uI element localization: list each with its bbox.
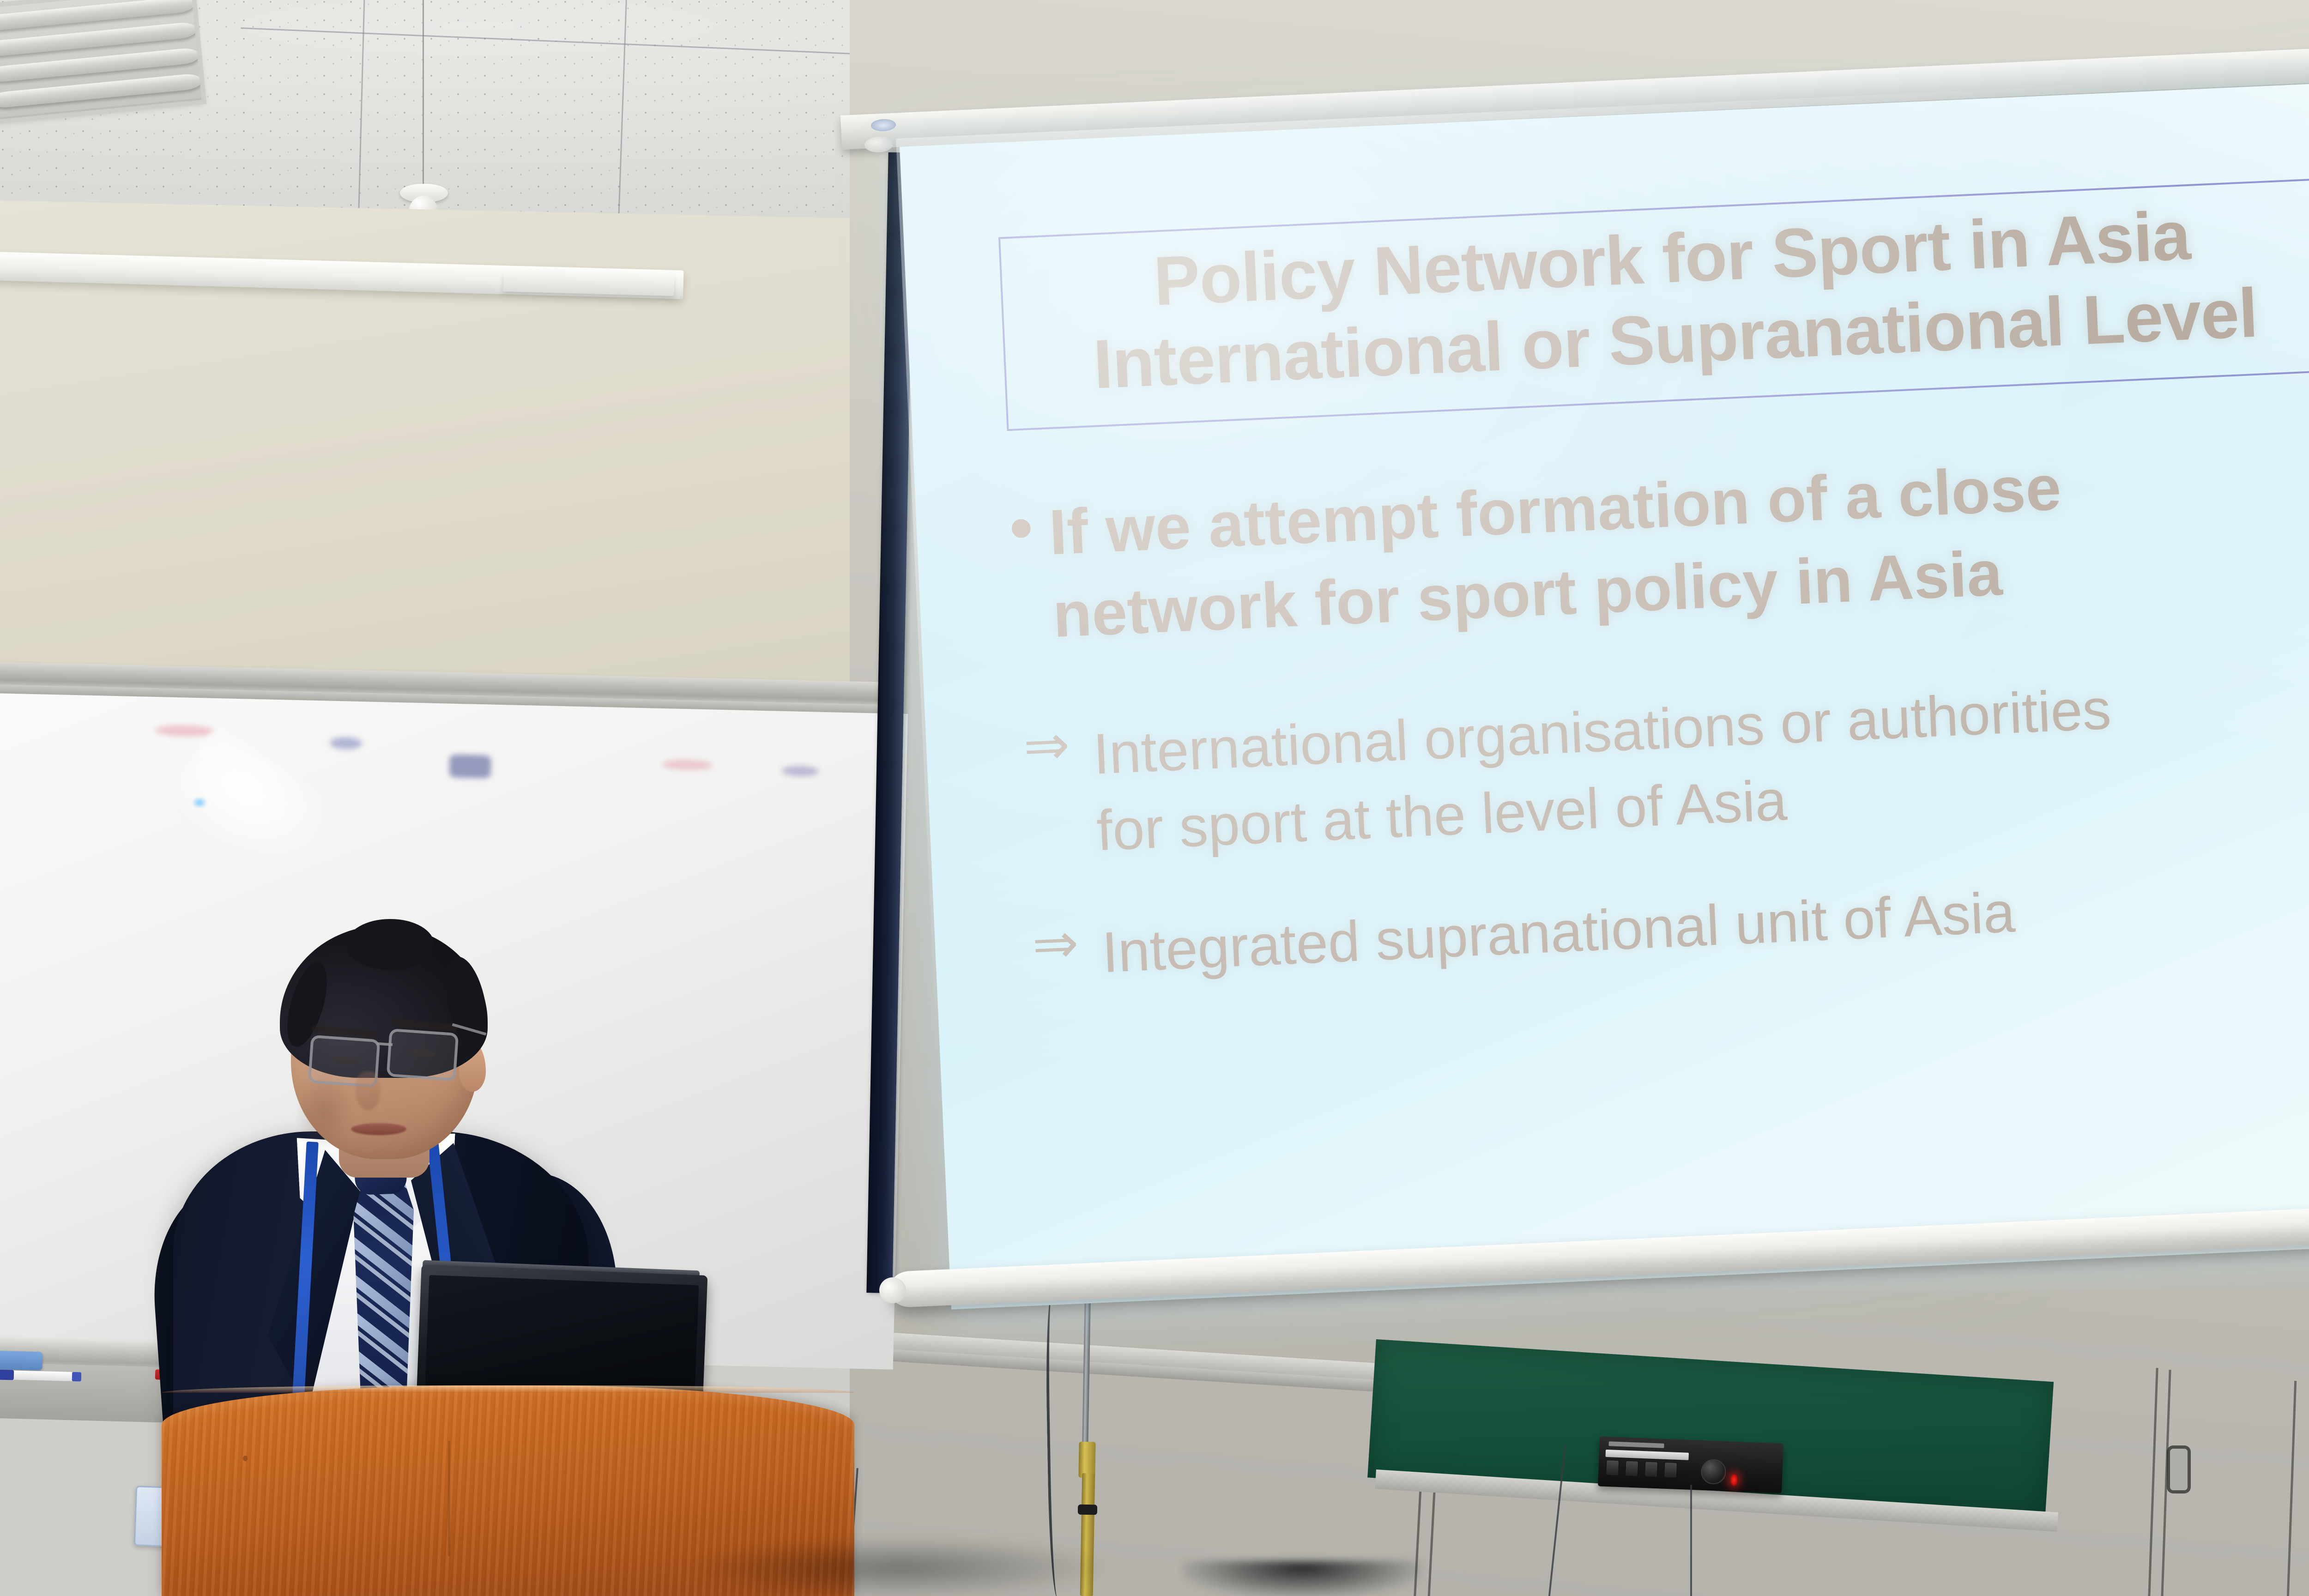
foreground-dark-object (1182, 1561, 1422, 1596)
amplifier-cable (1690, 1485, 1699, 1596)
lectern-wood-seam (448, 1441, 450, 1556)
slide-arrow-item-2: ⇒ Integrated supranational unit of Asia (1031, 857, 2309, 994)
arrow-2-line-1: Integrated supranational unit of Asia (1100, 874, 2017, 991)
mouth (351, 1123, 406, 1135)
slide-arrow-item-1: ⇒ International organisations or authori… (1022, 659, 2309, 872)
double-arrow-icon: ⇒ (1022, 717, 1071, 774)
whiteboard-smudge (449, 754, 491, 778)
amplifier-volume-knob[interactable] (1700, 1459, 1726, 1485)
photo-scene: Policy Network for Sport in Asia Interna… (0, 0, 2309, 1596)
bullet-dot-icon: • (1008, 492, 1035, 562)
arrow-item-2-text: Integrated supranational unit of Asia (1100, 874, 2017, 991)
amplifier-button[interactable] (1664, 1462, 1677, 1478)
whiteboard-eraser[interactable] (0, 1351, 43, 1371)
pendant-support-wire (423, 0, 424, 187)
hair-strand (346, 919, 434, 970)
screen-pull-rod-ring (1078, 1505, 1097, 1515)
screen-pull-rod-joint (1078, 1442, 1095, 1478)
amplifier-power-led (1730, 1474, 1738, 1486)
whiteboard-light-spot (192, 797, 207, 809)
nose (356, 1071, 381, 1110)
eyeglasses-lens-right (387, 1028, 459, 1081)
whiteboard-smudge (782, 766, 819, 777)
lectern-surface-mark (243, 1456, 248, 1461)
sliding-board-handle-icon[interactable] (2167, 1445, 2191, 1493)
whiteboard-smudge (330, 737, 363, 750)
amplifier-button[interactable] (1625, 1461, 1638, 1477)
amplifier-text-strip (1606, 1450, 1689, 1460)
double-arrow-icon: ⇒ (1031, 916, 1080, 973)
slide-bullet-1: • If we attempt formation of a close net… (1008, 434, 2309, 659)
whiteboard-marker-cap[interactable] (0, 1369, 14, 1380)
bullet-1-text: If we attempt formation of a close netwo… (1047, 447, 2067, 657)
projection-screen-assembly: Policy Network for Sport in Asia Interna… (877, 0, 2309, 1385)
whiteboard-marker-blue[interactable] (4, 1370, 73, 1381)
arrow-item-1-text: International organisations or authoriti… (1092, 671, 2116, 870)
whiteboard-smudge (662, 759, 713, 770)
air-vent-frame (0, 0, 206, 125)
floor-shadow (693, 1538, 1108, 1596)
presentation-slide: Policy Network for Sport in Asia Interna… (900, 79, 2309, 1309)
amplifier-label-strip (1608, 1441, 1664, 1448)
projection-screen-surface: Policy Network for Sport in Asia Interna… (900, 79, 2309, 1309)
whiteboard-smudge (154, 725, 215, 737)
amplifier-button[interactable] (1606, 1460, 1619, 1476)
amplifier-button[interactable] (1644, 1461, 1658, 1477)
lectern-top-edge (162, 1385, 854, 1393)
